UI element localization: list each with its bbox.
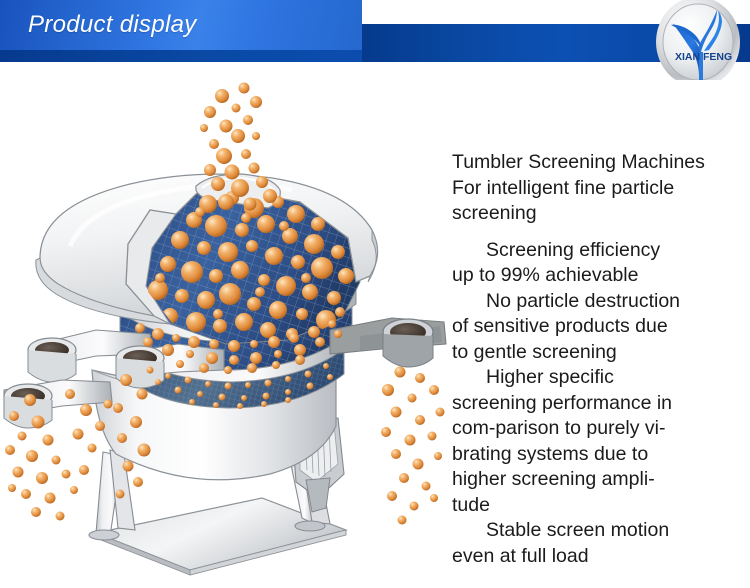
feature-line-7: screening performance in (452, 391, 740, 417)
product-display-page: Product display (0, 0, 750, 588)
particles-discharge-right (381, 367, 445, 525)
feature-line-6: Higher specific (452, 365, 740, 391)
product-description-text: Tumbler Screening Machines For intellige… (452, 150, 740, 569)
feature-line-3: No particle destruction (452, 289, 740, 315)
header-banner: Product display (0, 0, 750, 80)
feature-line-9: brating systems due to (452, 442, 740, 468)
tumbler-screening-machine-image (0, 78, 460, 588)
logo-text-left: XIAN (675, 51, 700, 63)
copy-spacer (452, 227, 740, 238)
heading-line-3: screening (452, 201, 740, 227)
heading-line-1: Tumbler Screening Machines (452, 150, 740, 176)
logo-text-right: FENG (703, 51, 732, 63)
feature-line-10: higher screening ampli- (452, 467, 740, 493)
xianfeng-logo: XIAN FENG (655, 0, 741, 80)
heading-line-2: For intelligent fine particle (452, 176, 740, 202)
feature-line-8: com-parison to purely vi- (452, 416, 740, 442)
feature-line-1: Screening efficiency (452, 238, 740, 264)
feature-line-5: to gentle screening (452, 340, 740, 366)
page-title: Product display (28, 11, 197, 39)
feature-line-4: of sensitive products due (452, 314, 740, 340)
feature-line-12: Stable screen motion (452, 518, 740, 544)
feature-line-13: even at full load (452, 544, 740, 570)
feature-line-11: tude (452, 493, 740, 519)
feature-line-2: up to 99% achievable (452, 263, 740, 289)
